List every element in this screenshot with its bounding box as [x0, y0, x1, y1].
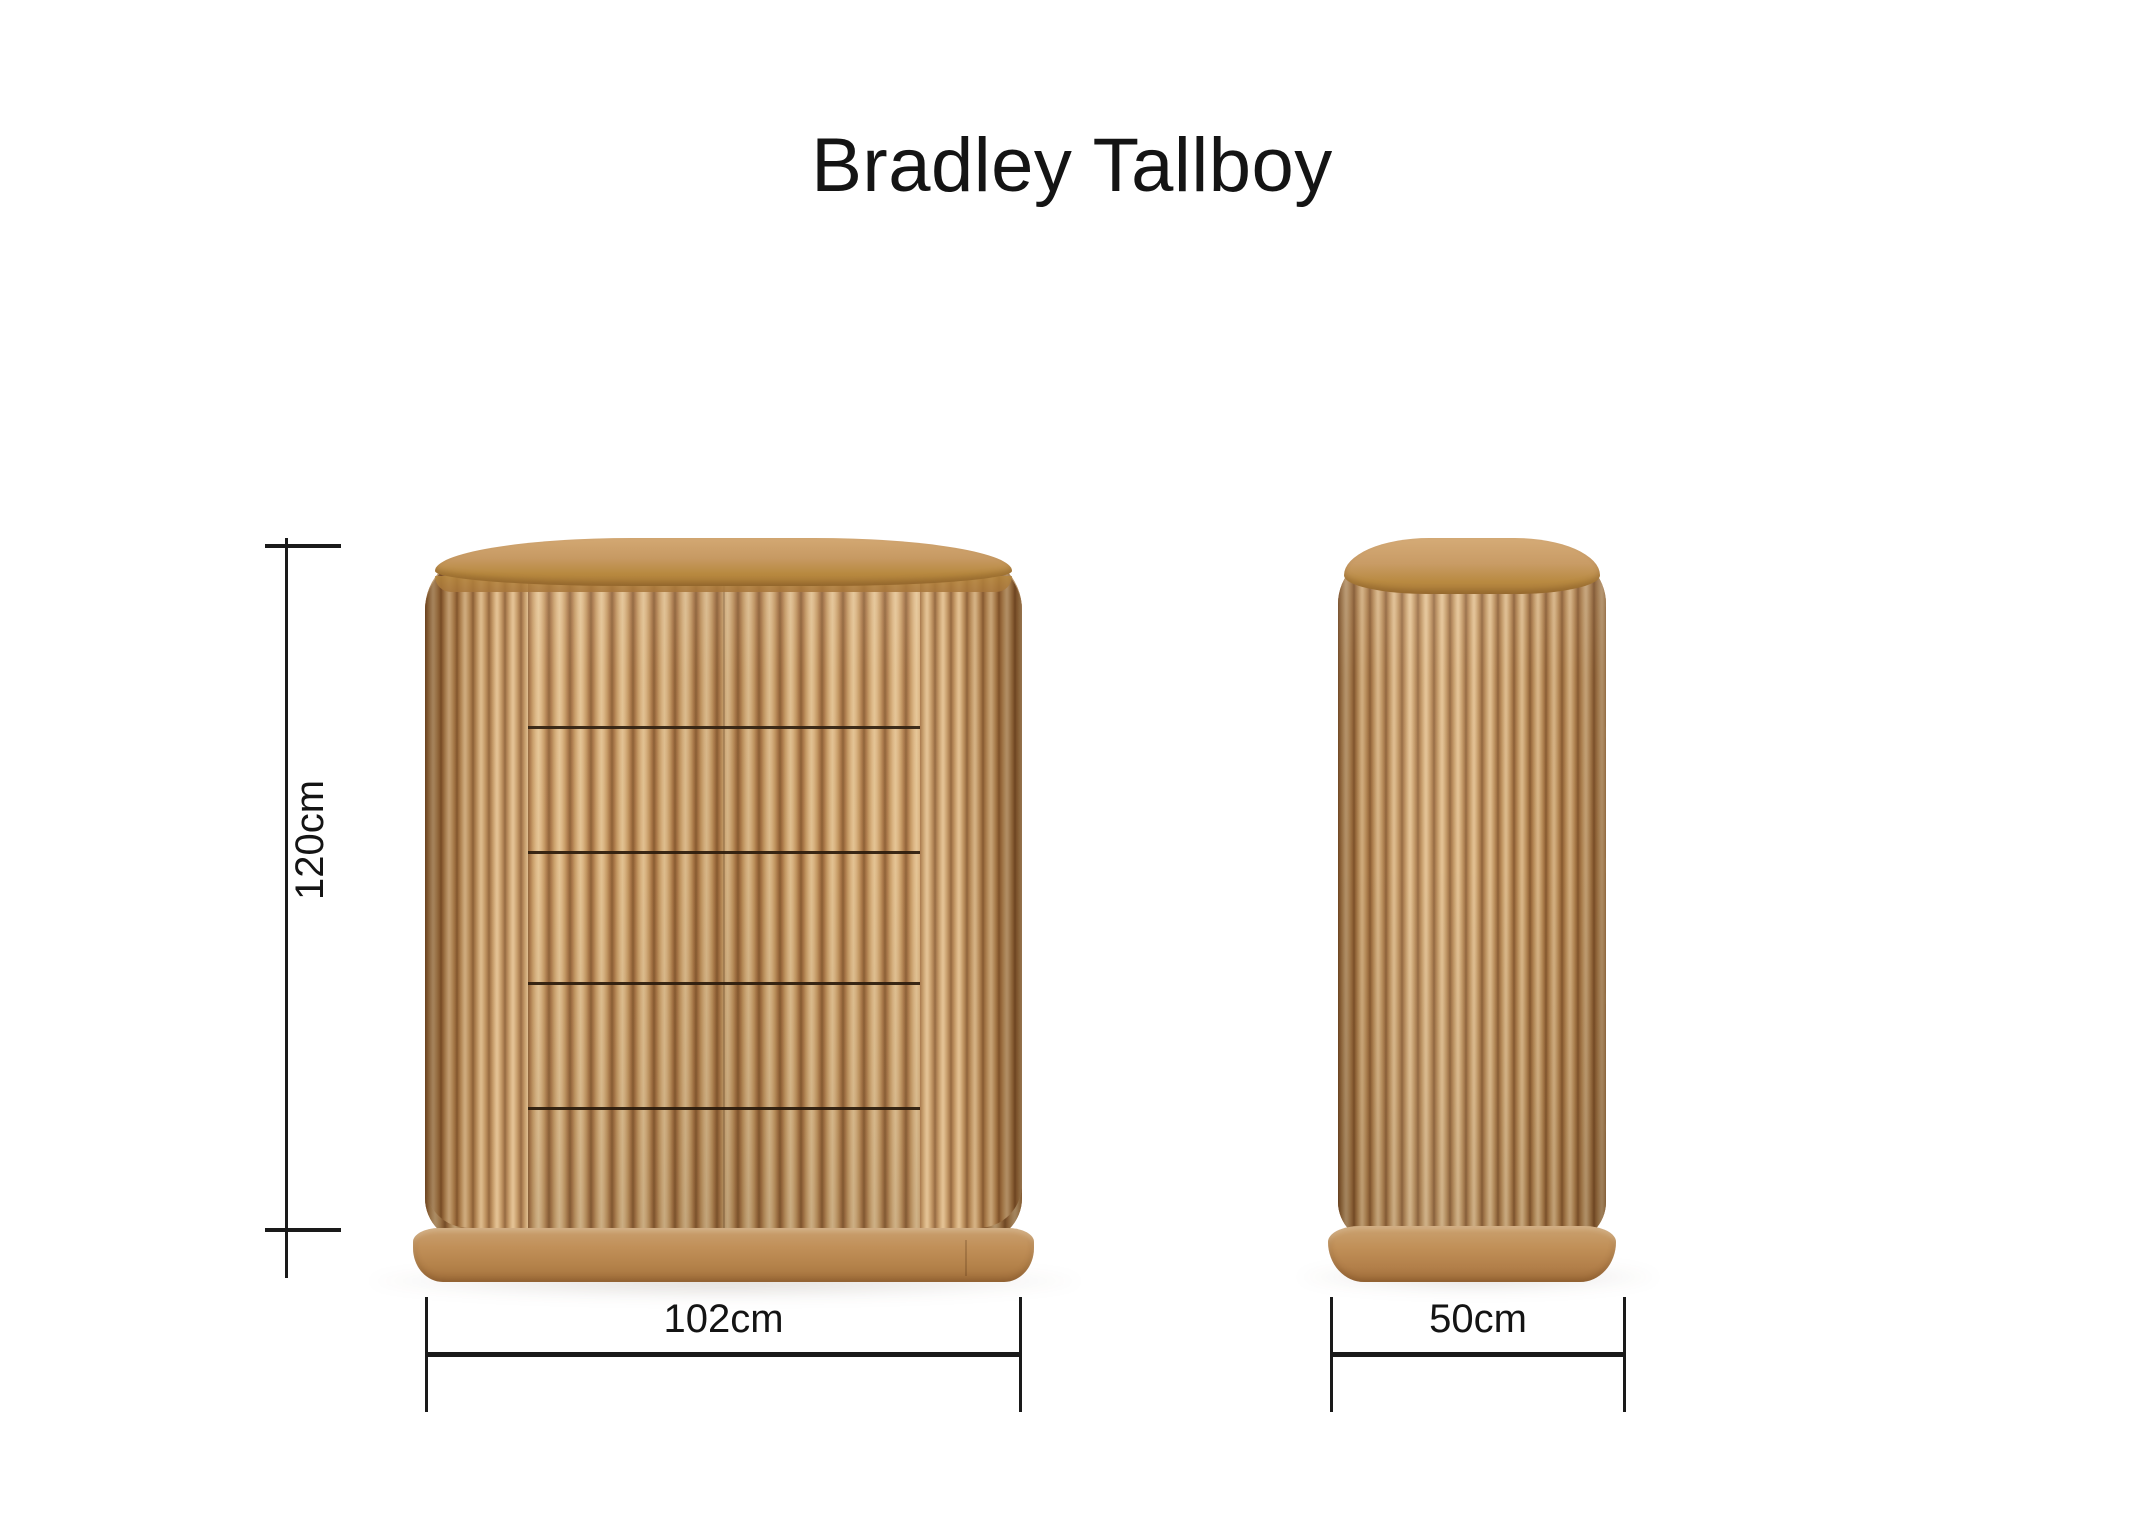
- front-view-top-cap: [435, 538, 1012, 586]
- front-view-plinth-seam: [965, 1240, 967, 1276]
- depth-dimension-label: 50cm: [1330, 1297, 1626, 1342]
- front-view-left-side-panel: [425, 554, 528, 1228]
- front-view-right-side-panel: [919, 554, 1022, 1228]
- depth-dimension-line: [1330, 1352, 1626, 1357]
- drawer-gap-line: [528, 982, 920, 985]
- front-view-plinth-base: [413, 1228, 1034, 1282]
- page-title: Bradley Tallboy: [0, 128, 2144, 204]
- width-dimension-label: 102cm: [425, 1297, 1022, 1342]
- side-view-plinth-base: [1328, 1226, 1616, 1282]
- drawer-centre-seam: [723, 554, 725, 1228]
- side-view-flute-texture: [1338, 552, 1606, 1242]
- width-dimension-line: [425, 1352, 1022, 1357]
- front-view-tallboy: [425, 538, 1022, 1278]
- side-view-tallboy: [1330, 538, 1626, 1278]
- drawer-gap-line: [528, 1107, 920, 1110]
- front-view-left-flute-texture: [425, 554, 528, 1228]
- drawer-gap-line: [528, 851, 920, 854]
- drawer-gap-line: [528, 726, 920, 729]
- height-dimension-line: [285, 538, 288, 1278]
- side-view-cabinet-body: [1338, 552, 1606, 1242]
- side-view-top-cap: [1344, 538, 1600, 594]
- front-view-drawer-stack: [528, 554, 920, 1228]
- height-dimension-tick-bottom: [265, 1228, 341, 1232]
- height-dimension-tick-top: [265, 544, 341, 548]
- height-dimension-label: 120cm: [288, 780, 333, 900]
- front-view-right-flute-texture: [919, 554, 1022, 1228]
